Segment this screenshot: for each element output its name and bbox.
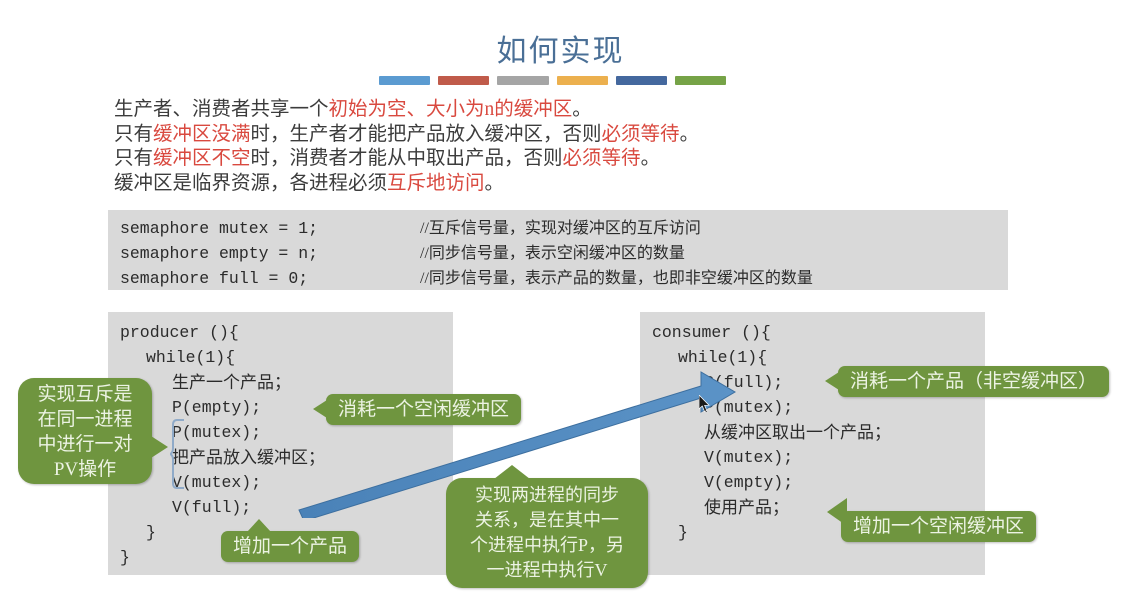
plain-text: 。 bbox=[641, 148, 661, 169]
highlight-text: 必须等待 bbox=[602, 124, 680, 145]
callout-tail bbox=[151, 436, 168, 458]
callout-add-product: 增加一个产品 bbox=[221, 531, 359, 562]
callout-label: 实现互斥是 bbox=[28, 382, 142, 407]
callout-label: 个进程中执行P，另 bbox=[456, 533, 638, 558]
producer-code-line: while(1){ bbox=[120, 345, 453, 370]
intro-line-3: 只有缓冲区不空时，消费者才能从中取出产品，否则必须等待。 bbox=[114, 147, 699, 172]
intro-line-4: 缓冲区是临界资源，各进程必须互斥地访问。 bbox=[114, 172, 699, 197]
plain-text: 缓冲区是临界资源，各进程必须 bbox=[114, 173, 387, 194]
plain-text: 。 bbox=[572, 99, 592, 120]
callout-consume-empty-buffer: 消耗一个空闲缓冲区 bbox=[326, 394, 521, 425]
callout-label: 在同一进程 bbox=[28, 407, 142, 432]
callout-add-empty-buffer: 增加一个空闲缓冲区 bbox=[841, 511, 1036, 542]
bar-gray bbox=[497, 76, 548, 85]
callout-label: 增加一个产品 bbox=[233, 531, 347, 562]
callout-mutex-pv-pair: 实现互斥是在同一进程中进行一对PV操作 bbox=[18, 378, 152, 484]
callout-sync-two-processes: 实现两进程的同步关系，是在其中一个进程中执行P，另一进程中执行V bbox=[446, 478, 648, 588]
intro-line-2: 只有缓冲区没满时，生产者才能把产品放入缓冲区，否则必须等待。 bbox=[114, 123, 699, 148]
callout-label: 中进行一对 bbox=[28, 432, 142, 457]
declaration-comment: //同步信号量，表示产品的数量，也即非空缓冲区的数量 bbox=[420, 270, 813, 287]
consumer-code-line: V(empty); bbox=[652, 470, 985, 495]
divider-bar-strip bbox=[379, 76, 726, 85]
callout-label: 一进程中执行V bbox=[456, 558, 638, 583]
code-panel-declarations: semaphore mutex = 1;//互斥信号量，实现对缓冲区的互斥访问s… bbox=[108, 210, 1008, 290]
callout-label: 关系，是在其中一 bbox=[456, 508, 638, 533]
plain-text: 。 bbox=[680, 124, 700, 145]
declaration-row: semaphore full = 0;//同步信号量，表示产品的数量，也即非空缓… bbox=[120, 266, 1008, 291]
callout-tail bbox=[247, 519, 271, 532]
plain-text: 只有 bbox=[114, 148, 153, 169]
callout-label: 消耗一个空闲缓冲区 bbox=[338, 394, 509, 425]
declaration-comment: //同步信号量，表示空闲缓冲区的数量 bbox=[420, 245, 685, 262]
intro-paragraph: 生产者、消费者共享一个初始为空、大小为n的缓冲区。只有缓冲区没满时，生产者才能把… bbox=[114, 98, 699, 196]
callout-tail bbox=[313, 400, 327, 418]
callout-label: 消耗一个产品（非空缓冲区） bbox=[850, 366, 1097, 397]
brace-group-icon bbox=[170, 418, 188, 490]
highlight-text: 必须等待 bbox=[563, 148, 641, 169]
highlight-text: 缓冲区不空 bbox=[153, 148, 251, 169]
page-title: 如何实现 bbox=[0, 26, 1121, 70]
callout-consume-product: 消耗一个产品（非空缓冲区） bbox=[838, 366, 1109, 397]
plain-text: 时，消费者才能从中取出产品，否则 bbox=[251, 148, 563, 169]
consumer-code-line: V(mutex); bbox=[652, 445, 985, 470]
consumer-code-line: consumer (){ bbox=[652, 320, 985, 345]
declaration-code: semaphore empty = n; bbox=[120, 241, 420, 266]
callout-tail bbox=[494, 465, 530, 479]
declaration-row: semaphore mutex = 1;//互斥信号量，实现对缓冲区的互斥访问 bbox=[120, 216, 1008, 241]
plain-text: 。 bbox=[485, 173, 505, 194]
callout-label: 实现两进程的同步 bbox=[456, 483, 638, 508]
bar-blue bbox=[379, 76, 430, 85]
slide-canvas: 如何实现 生产者、消费者共享一个初始为空、大小为n的缓冲区。只有缓冲区没满时，生… bbox=[0, 0, 1121, 595]
highlight-text: 初始为空、大小为n的缓冲区 bbox=[329, 99, 573, 120]
callout-tail bbox=[827, 498, 847, 526]
bar-green bbox=[675, 76, 726, 85]
bar-navy bbox=[616, 76, 667, 85]
highlight-text: 缓冲区没满 bbox=[153, 124, 251, 145]
declaration-comment: //互斥信号量，实现对缓冲区的互斥访问 bbox=[420, 220, 701, 237]
intro-line-1: 生产者、消费者共享一个初始为空、大小为n的缓冲区。 bbox=[114, 98, 699, 123]
producer-code-line: producer (){ bbox=[120, 320, 453, 345]
consumer-code-line: 从缓冲区取出一个产品； bbox=[652, 420, 985, 445]
highlight-text: 互斥地访问 bbox=[387, 173, 485, 194]
producer-code-line: 生产一个产品； bbox=[120, 370, 453, 395]
callout-tail bbox=[825, 372, 839, 390]
plain-text: 只有 bbox=[114, 124, 153, 145]
declaration-code: semaphore full = 0; bbox=[120, 266, 420, 291]
consumer-code-line bbox=[652, 545, 985, 570]
declaration-row: semaphore empty = n;//同步信号量，表示空闲缓冲区的数量 bbox=[120, 241, 1008, 266]
callout-label: PV操作 bbox=[28, 457, 142, 482]
declaration-code: semaphore mutex = 1; bbox=[120, 216, 420, 241]
mouse-cursor-icon bbox=[699, 395, 711, 413]
bar-yellow bbox=[557, 76, 608, 85]
plain-text: 时，生产者才能把产品放入缓冲区，否则 bbox=[251, 124, 602, 145]
bar-red bbox=[438, 76, 489, 85]
plain-text: 生产者、消费者共享一个 bbox=[114, 99, 329, 120]
callout-label: 增加一个空闲缓冲区 bbox=[853, 511, 1024, 542]
producer-code-line: V(full); bbox=[120, 495, 453, 520]
